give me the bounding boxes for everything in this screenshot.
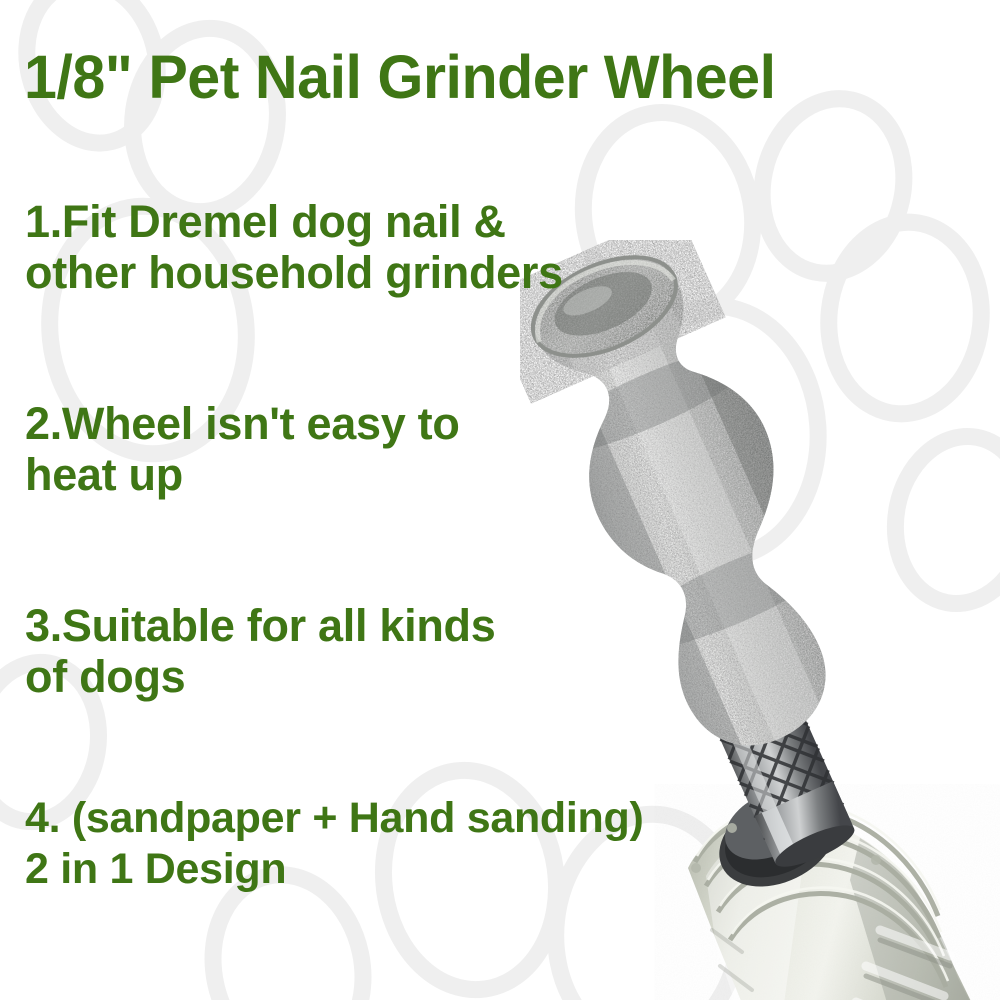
feature-2-line-2: heat up [25, 449, 460, 500]
feature-3-line-1: 3.Suitable for all kinds [25, 600, 495, 651]
feature-item-2: 2.Wheel isn't easy to heat up [25, 398, 460, 500]
feature-item-4: 4. (sandpaper + Hand sanding) 2 in 1 Des… [25, 793, 644, 895]
page-title: 1/8" Pet Nail Grinder Wheel [24, 45, 957, 109]
feature-1-line-1: 1.Fit Dremel dog nail & [25, 196, 563, 247]
product-infographic: 1/8" Pet Nail Grinder Wheel 1.Fit Dremel… [0, 0, 1000, 1000]
text-layer: 1/8" Pet Nail Grinder Wheel 1.Fit Dremel… [0, 0, 1000, 1000]
feature-item-3: 3.Suitable for all kinds of dogs [25, 600, 495, 702]
feature-4-line-1: 4. (sandpaper + Hand sanding) [25, 793, 644, 844]
feature-1-line-2: other household grinders [25, 247, 563, 298]
feature-item-1: 1.Fit Dremel dog nail & other household … [25, 196, 563, 298]
feature-3-line-2: of dogs [25, 651, 495, 702]
feature-2-line-1: 2.Wheel isn't easy to [25, 398, 460, 449]
feature-4-line-2: 2 in 1 Design [25, 844, 644, 895]
